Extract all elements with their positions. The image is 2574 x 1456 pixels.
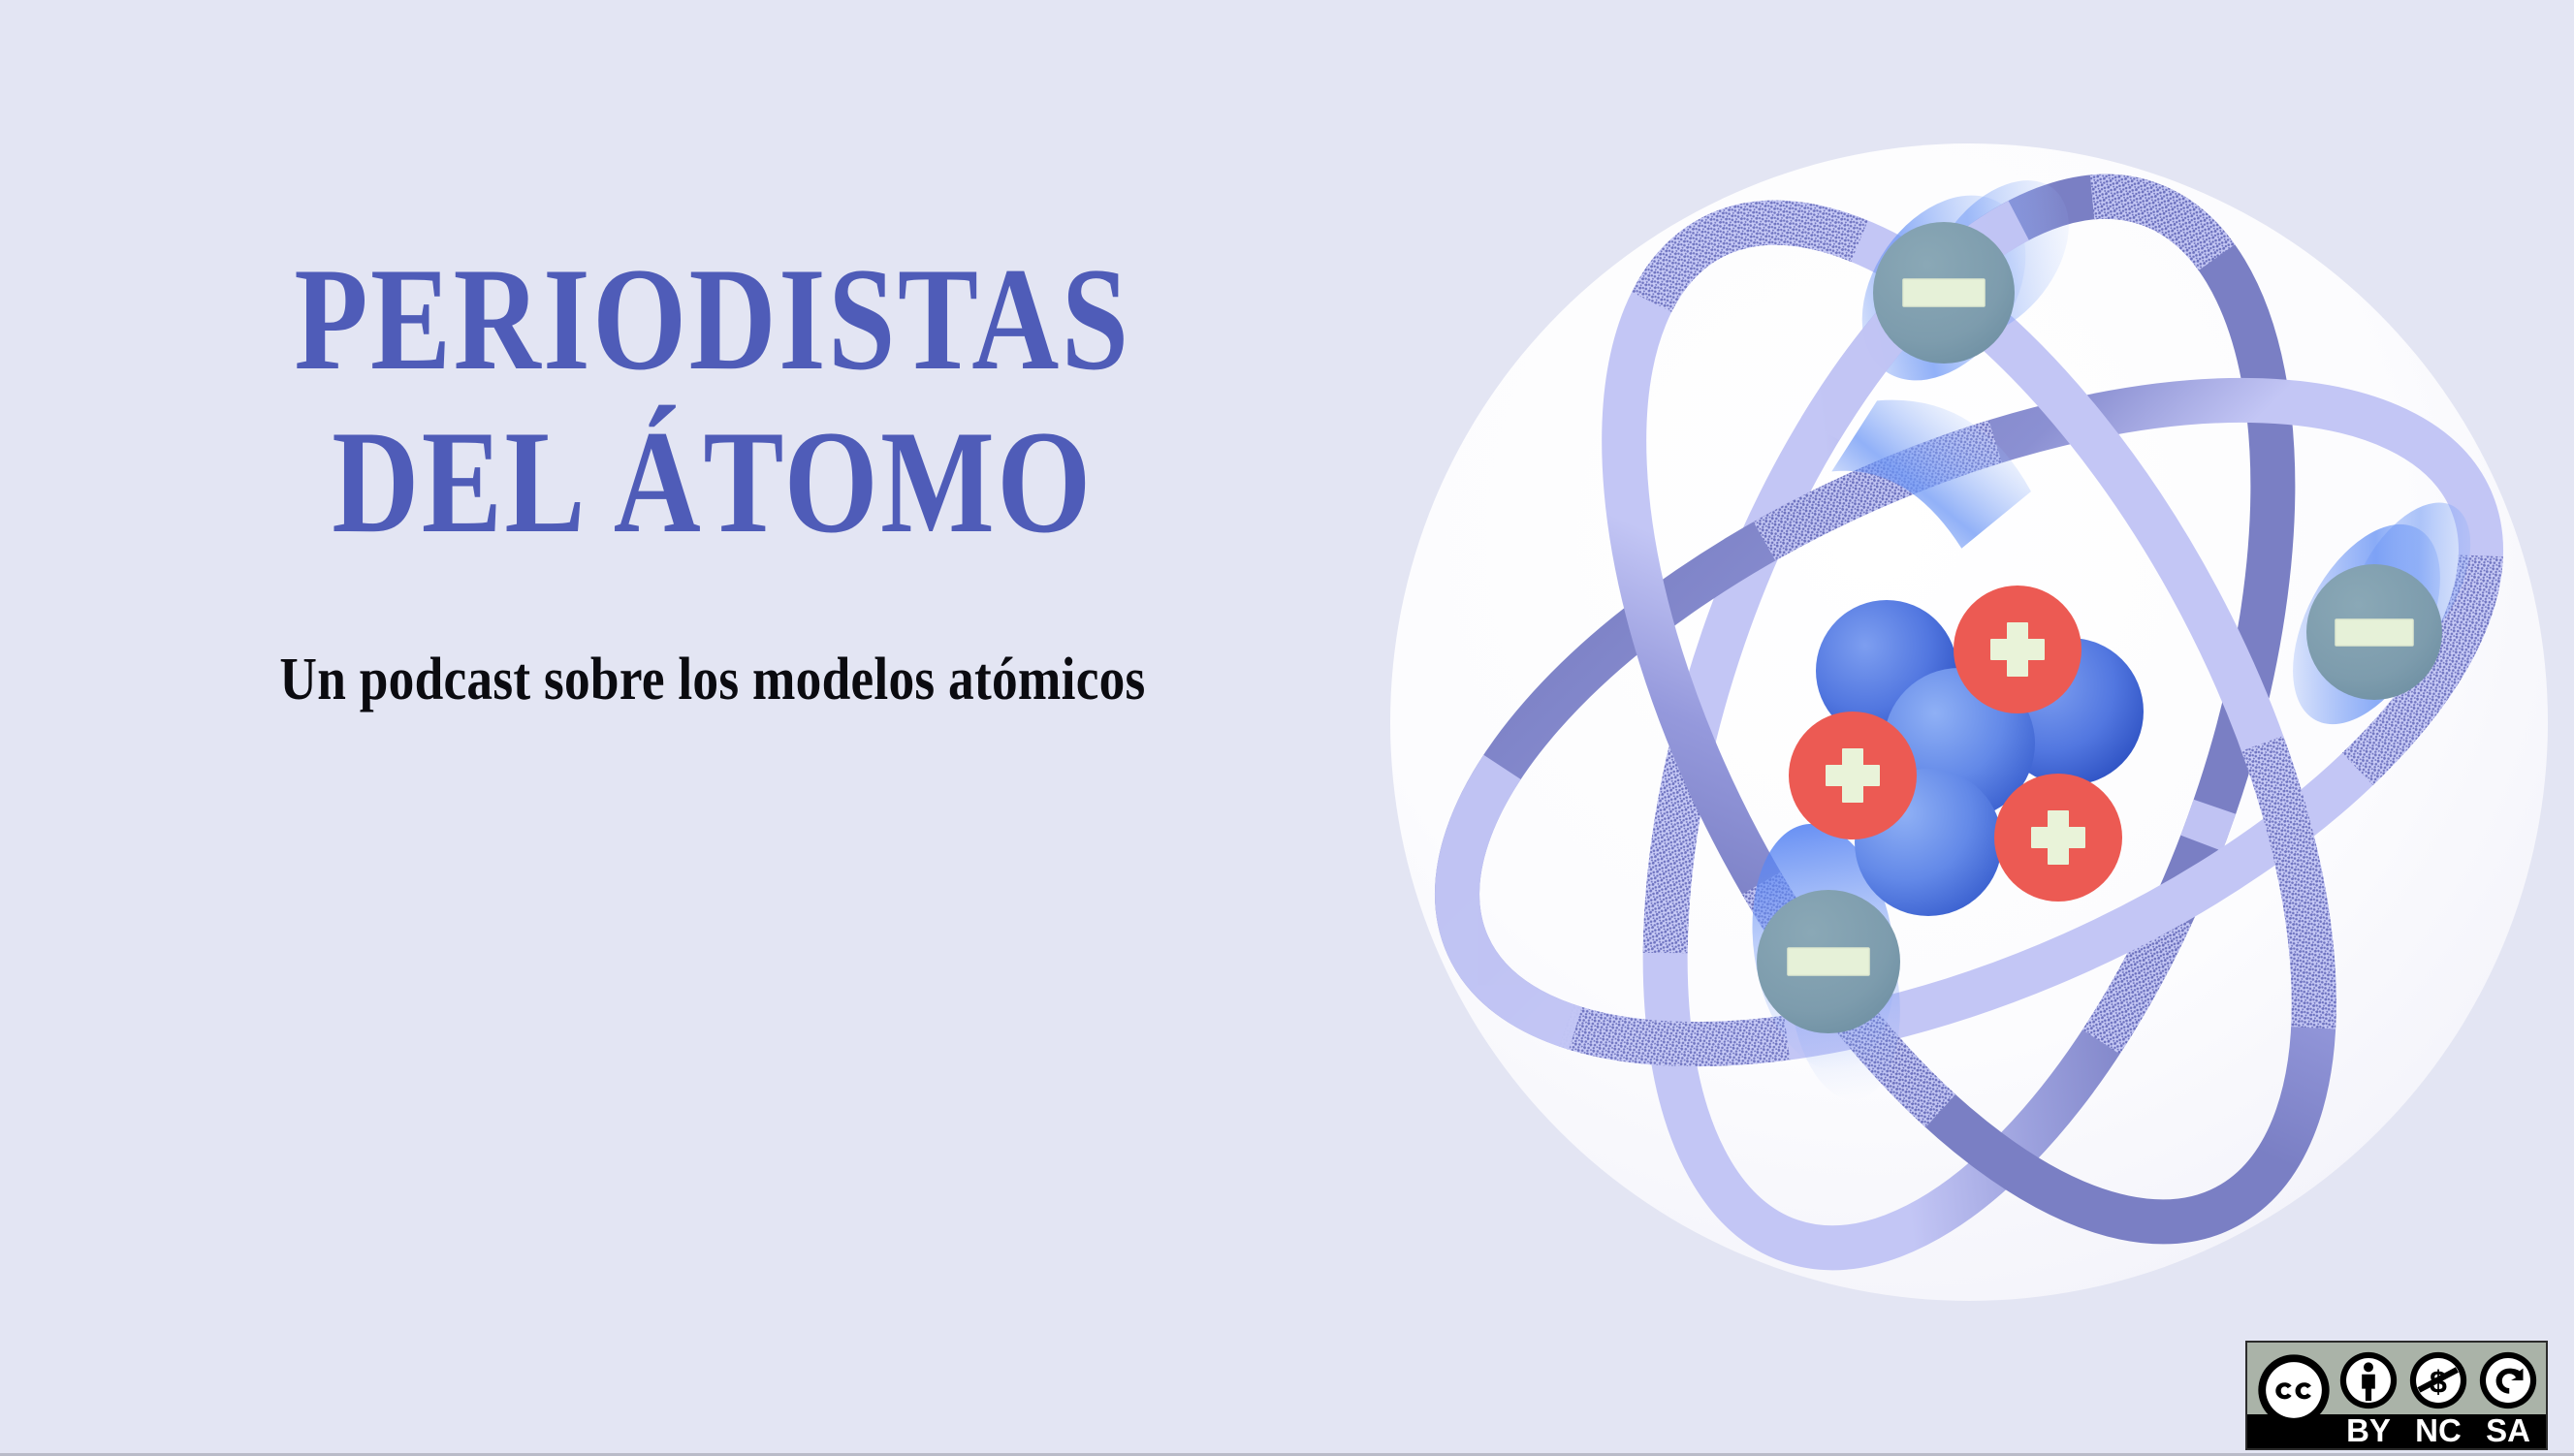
electron-minus-sign: [2336, 619, 2413, 646]
proton: [1789, 712, 1917, 839]
podcast-cover-poster: PERIODISTAS DEL ÁTOMO Un podcast sobre l…: [0, 0, 2574, 1456]
license-term-sa: SA: [2474, 1412, 2542, 1449]
creative-commons-icon: [2256, 1352, 2332, 1428]
atom-illustration: [1389, 142, 2549, 1302]
page-title-line-1: PERIODISTAS: [211, 252, 1213, 388]
page-subtitle: Un podcast sobre los modelos atómicos: [187, 646, 1238, 714]
share-alike-icon: [2478, 1350, 2538, 1410]
electron-top: [1873, 222, 2015, 364]
page-title-line-2: DEL ÁTOMO: [211, 415, 1213, 551]
proton: [1954, 586, 2081, 713]
electron-right: [2306, 564, 2442, 700]
license-term-nc: NC: [2404, 1412, 2472, 1449]
proton: [1994, 774, 2122, 902]
license-term-by: BY: [2335, 1412, 2402, 1449]
electron-minus-sign: [1788, 948, 1869, 975]
poster-text-block: PERIODISTAS DEL ÁTOMO Un podcast sobre l…: [102, 242, 1323, 714]
attribution-person-icon: [2338, 1350, 2399, 1410]
non-commercial-icon: $: [2408, 1350, 2468, 1410]
electron-minus-sign: [1903, 279, 1985, 306]
license-badge[interactable]: $ BY NC SA: [2245, 1341, 2548, 1450]
electron-left: [1757, 890, 1900, 1033]
